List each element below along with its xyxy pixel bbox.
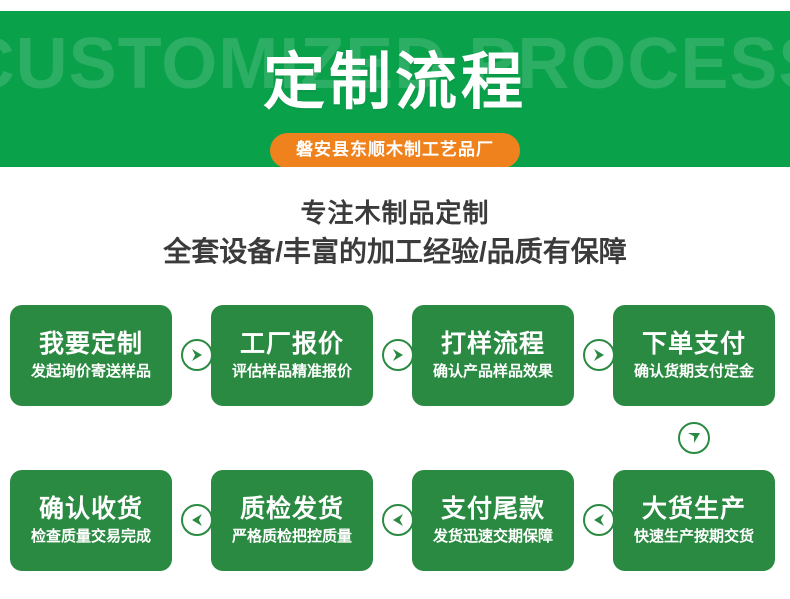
process-step-title: 支付尾款 (441, 494, 545, 524)
process-flow-diagram: 我要定制 发起询价寄送样品 工厂报价 评估样品精准报价 打样流程 确认产品样品效… (0, 305, 790, 585)
process-step-subtitle: 严格质检把控质量 (232, 526, 352, 547)
banner-badge-container: 磐安县东顺木制工艺品厂 (0, 133, 790, 167)
process-step-box[interactable]: 我要定制 发起询价寄送样品 (10, 305, 172, 406)
process-step-title: 确认收货 (39, 494, 143, 524)
process-step-subtitle: 发货迅速交期保障 (433, 526, 553, 547)
process-step-box[interactable]: 确认收货 检查质量交易完成 (10, 470, 172, 571)
process-step-box[interactable]: 大货生产 快速生产按期交货 (613, 470, 775, 571)
process-step-subtitle: 发起询价寄送样品 (31, 361, 151, 382)
process-step-box[interactable]: 质检发货 严格质检把控质量 (211, 470, 373, 571)
process-flow-row-1: 我要定制 发起询价寄送样品 工厂报价 评估样品精准报价 打样流程 确认产品样品效… (0, 305, 790, 406)
process-step-title: 下单支付 (642, 329, 746, 359)
process-step-title: 质检发货 (240, 494, 344, 524)
process-step-subtitle: 确认货期支付定金 (634, 361, 754, 382)
process-step-box[interactable]: 支付尾款 发货迅速交期保障 (412, 470, 574, 571)
subheading-line-2: 全套设备/丰富的加工经验/品质有保障 (0, 234, 790, 270)
process-step-subtitle: 检查质量交易完成 (31, 526, 151, 547)
process-step-title: 大货生产 (642, 494, 746, 524)
subheading-line-1: 专注木制品定制 (0, 196, 790, 230)
process-step-box[interactable]: 下单支付 确认货期支付定金 (613, 305, 775, 406)
process-step-subtitle: 快速生产按期交货 (634, 526, 754, 547)
process-step-subtitle: 评估样品精准报价 (232, 361, 352, 382)
chevron-left-icon (181, 504, 213, 536)
chevron-down-icon (678, 422, 710, 454)
chevron-right-icon (181, 339, 213, 371)
process-step-box[interactable]: 打样流程 确认产品样品效果 (412, 305, 574, 406)
process-step-title: 我要定制 (39, 329, 143, 359)
process-step-title: 工厂报价 (240, 329, 344, 359)
chevron-left-icon (382, 504, 414, 536)
chevron-right-icon (382, 339, 414, 371)
page-title: 定制流程 (0, 45, 790, 121)
process-step-title: 打样流程 (441, 329, 545, 359)
company-name-badge: 磐安县东顺木制工艺品厂 (270, 133, 520, 167)
process-flow-row-2: 确认收货 检查质量交易完成 质检发货 严格质检把控质量 支付尾款 发货迅速交期保… (0, 470, 790, 571)
header-banner: CUSTOMIZED PROCESS 定制流程 磐安县东顺木制工艺品厂 (0, 11, 790, 167)
process-step-subtitle: 确认产品样品效果 (433, 361, 553, 382)
chevron-right-icon (583, 339, 615, 371)
process-step-box[interactable]: 工厂报价 评估样品精准报价 (211, 305, 373, 406)
chevron-left-icon (583, 504, 615, 536)
